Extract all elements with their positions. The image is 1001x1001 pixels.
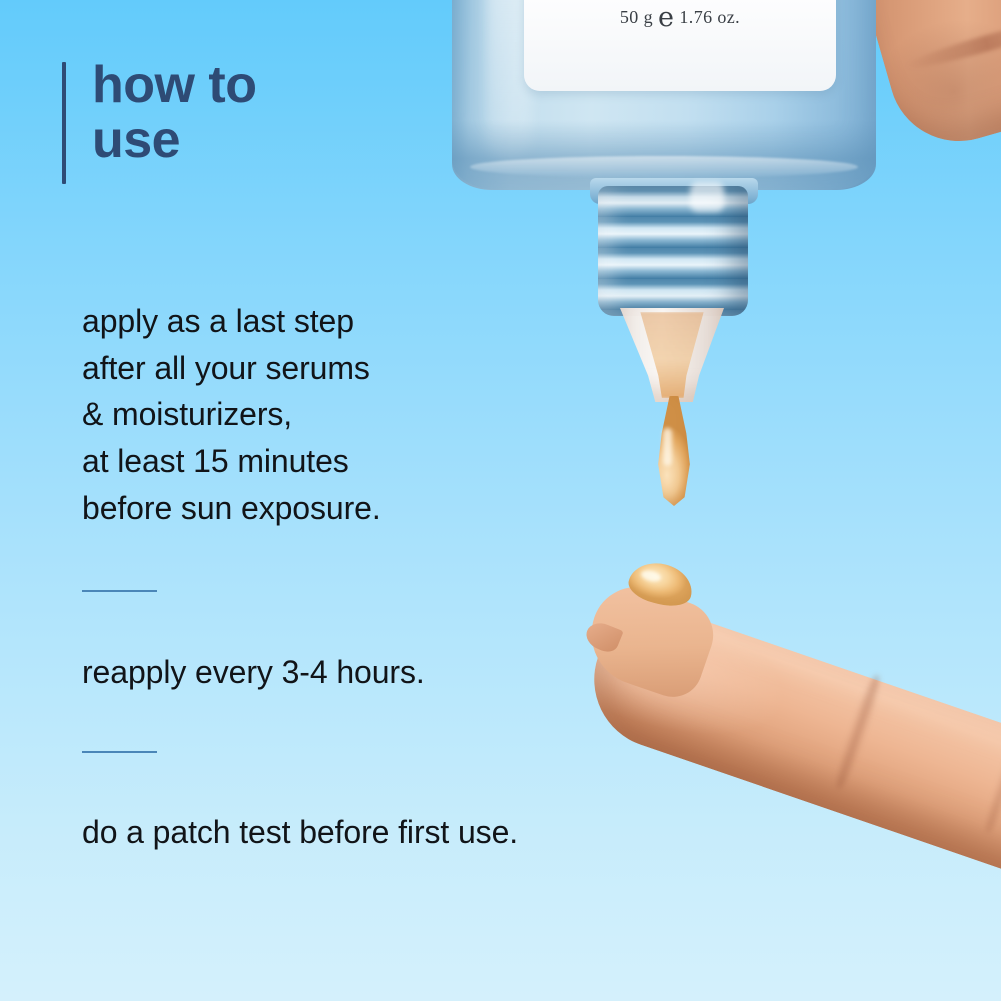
estimated-sign-icon: e [658, 2, 674, 33]
spacer-3 [82, 695, 702, 751]
finger-knuckle-crease-2 [981, 717, 1001, 835]
instructions-list: apply as a last step after all your seru… [82, 298, 702, 856]
sunscreen-bottle-body [452, 0, 876, 190]
instruction-step-3: do a patch test before first use. [82, 809, 702, 856]
spacer-1 [82, 532, 702, 590]
label-net-weight-imperial: 1.76 oz. [679, 7, 740, 27]
thumb-crease [904, 13, 1001, 75]
neck-highlight [690, 182, 724, 212]
finger-knuckle-crease [831, 673, 885, 792]
bottle-base-lip [470, 156, 858, 178]
page-title: how to use [62, 62, 257, 184]
thumb-holding-bottle [841, 0, 1001, 158]
bottle-neck-collar [590, 178, 758, 204]
product-label-text: 50 ge1.76 oz. [524, 2, 836, 33]
title-text: how to use [92, 58, 257, 184]
title-accent-bar [62, 62, 66, 184]
product-label [524, 0, 836, 91]
spacer-4 [82, 753, 702, 809]
instruction-step-2: reapply every 3-4 hours. [82, 649, 702, 696]
bottle-highlight [486, 0, 532, 160]
bottle-threaded-neck [598, 186, 748, 316]
label-net-weight-metric: 50 g [620, 7, 653, 27]
instruction-step-1: apply as a last step after all your seru… [82, 298, 702, 532]
bottle-base-shading [452, 120, 876, 190]
how-to-use-slide: 50 ge1.76 oz. how to use apply as a last… [0, 0, 1001, 1001]
spacer-2 [82, 592, 702, 649]
